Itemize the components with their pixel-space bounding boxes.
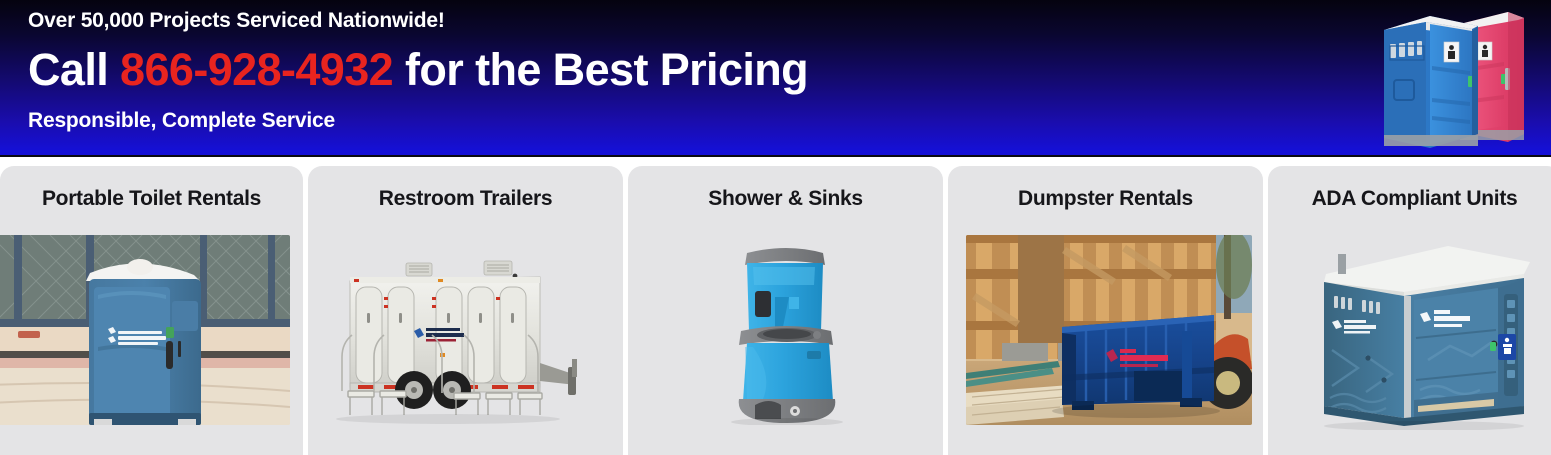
card-title: Dumpster Rentals — [948, 187, 1263, 211]
banner-text-block: Over 50,000 Projects Serviced Nationwide… — [28, 6, 1028, 136]
card-image-restroom-trailer — [328, 235, 603, 425]
service-card-ada-compliant-units[interactable]: ADA Compliant Units — [1268, 166, 1551, 455]
portable-toilets-pair-icon — [1368, 2, 1534, 154]
card-title: Restroom Trailers — [308, 187, 623, 211]
service-card-shower-and-sinks[interactable]: Shower & Sinks — [628, 166, 943, 455]
banner-bottom-rule — [0, 155, 1551, 157]
service-card-portable-toilet-rentals[interactable]: Portable Toilet Rentals — [0, 166, 303, 455]
phone-number-link[interactable]: 866-928-4932 — [120, 44, 393, 95]
promo-banner: Over 50,000 Projects Serviced Nationwide… — [0, 0, 1551, 157]
banner-tagline: Over 50,000 Projects Serviced Nationwide… — [28, 6, 1028, 36]
card-title: Shower & Sinks — [628, 187, 943, 211]
card-image-dumpster — [966, 235, 1252, 425]
page-root: Over 50,000 Projects Serviced Nationwide… — [0, 0, 1551, 455]
service-card-row: Portable Toilet Rentals — [0, 166, 1551, 455]
banner-subline: Responsible, Complete Service — [28, 106, 1028, 136]
card-image-portable-toilet — [0, 235, 290, 425]
banner-headline: Call 866-928-4932 for the Best Pricing — [28, 38, 1028, 102]
card-image-ada-unit — [1308, 230, 1546, 430]
card-title: ADA Compliant Units — [1268, 187, 1551, 211]
headline-suffix: for the Best Pricing — [393, 44, 808, 95]
card-title: Portable Toilet Rentals — [0, 187, 303, 211]
card-image-handwash-station — [683, 235, 888, 425]
headline-prefix: Call — [28, 44, 120, 95]
service-card-restroom-trailers[interactable]: Restroom Trailers — [308, 166, 623, 455]
service-card-dumpster-rentals[interactable]: Dumpster Rentals — [948, 166, 1263, 455]
